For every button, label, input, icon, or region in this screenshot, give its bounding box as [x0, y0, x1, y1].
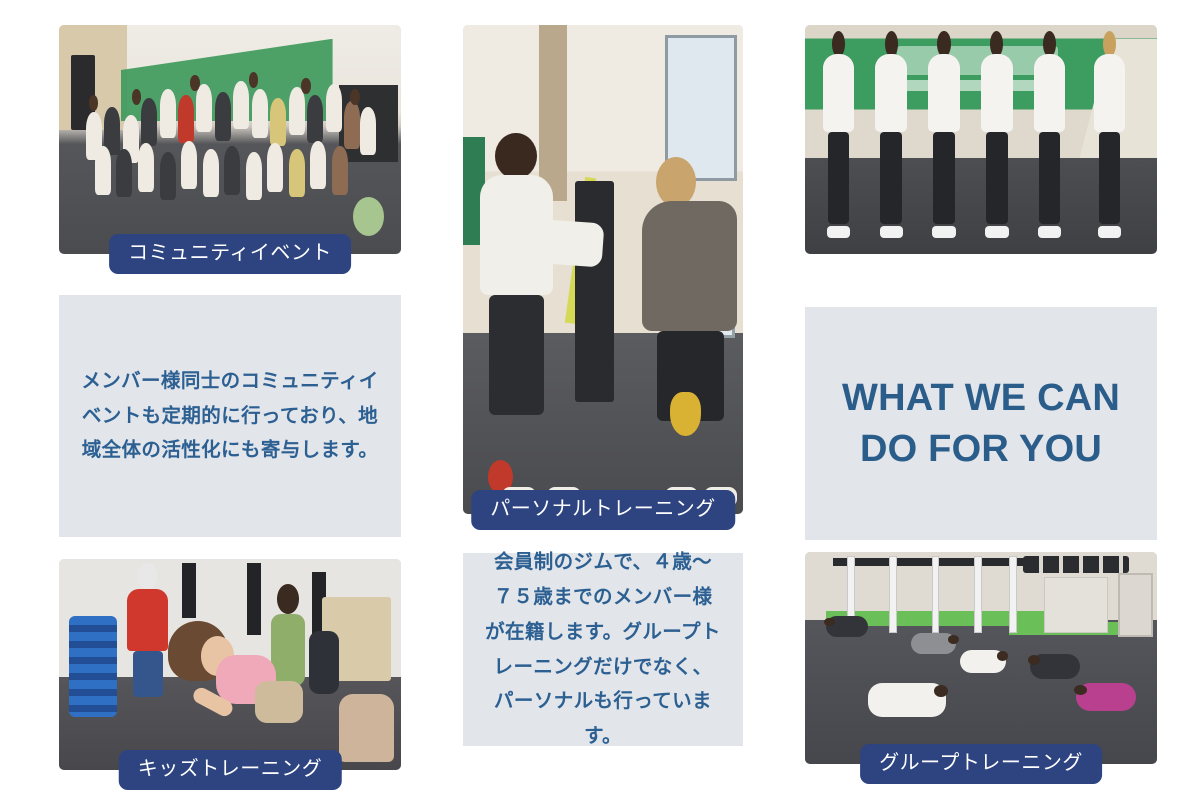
trainers-photo	[805, 25, 1157, 254]
kids-training-scene	[59, 559, 401, 770]
card-group-training[interactable]: グループトレーニング	[805, 552, 1157, 764]
panel-community-text: メンバー様同士のコミュニティイベントも定期的に行っており、地域全体の活性化にも寄…	[59, 295, 401, 537]
group-training-scene	[805, 552, 1157, 764]
card-community-event[interactable]: コミュニティイベント	[59, 25, 401, 254]
card-label-kids-training[interactable]: キッズトレーニング	[119, 750, 342, 790]
card-personal-training[interactable]: パーソナルトレーニング	[463, 25, 743, 514]
feature-grid: コミュニティイベント パーソナルトレーニング	[0, 0, 1200, 800]
personal-training-scene	[463, 25, 743, 514]
community-description: メンバー様同士のコミュニティイベントも定期的に行っており、地域全体の活性化にも寄…	[81, 364, 379, 468]
card-trainers[interactable]	[805, 25, 1157, 254]
card-kids-training[interactable]: キッズトレーニング	[59, 559, 401, 770]
page-title: WHAT WE CAN DO FOR YOU	[827, 373, 1135, 473]
membership-description: 会員制のジムで、４歳〜７５歳までのメンバー様が在籍します。グループトレーニングだ…	[485, 545, 721, 753]
card-label-personal-training[interactable]: パーソナルトレーニング	[471, 490, 735, 530]
group-training-photo	[805, 552, 1157, 764]
panel-headline: WHAT WE CAN DO FOR YOU	[805, 307, 1157, 540]
community-event-photo	[59, 25, 401, 254]
community-event-scene	[59, 25, 401, 254]
panel-membership-text: 会員制のジムで、４歳〜７５歳までのメンバー様が在籍します。グループトレーニングだ…	[463, 553, 743, 746]
card-label-community-event[interactable]: コミュニティイベント	[109, 234, 351, 274]
personal-training-photo	[463, 25, 743, 514]
trainers-scene	[805, 25, 1157, 254]
card-label-group-training[interactable]: グループトレーニング	[860, 744, 1102, 784]
kids-training-photo	[59, 559, 401, 770]
